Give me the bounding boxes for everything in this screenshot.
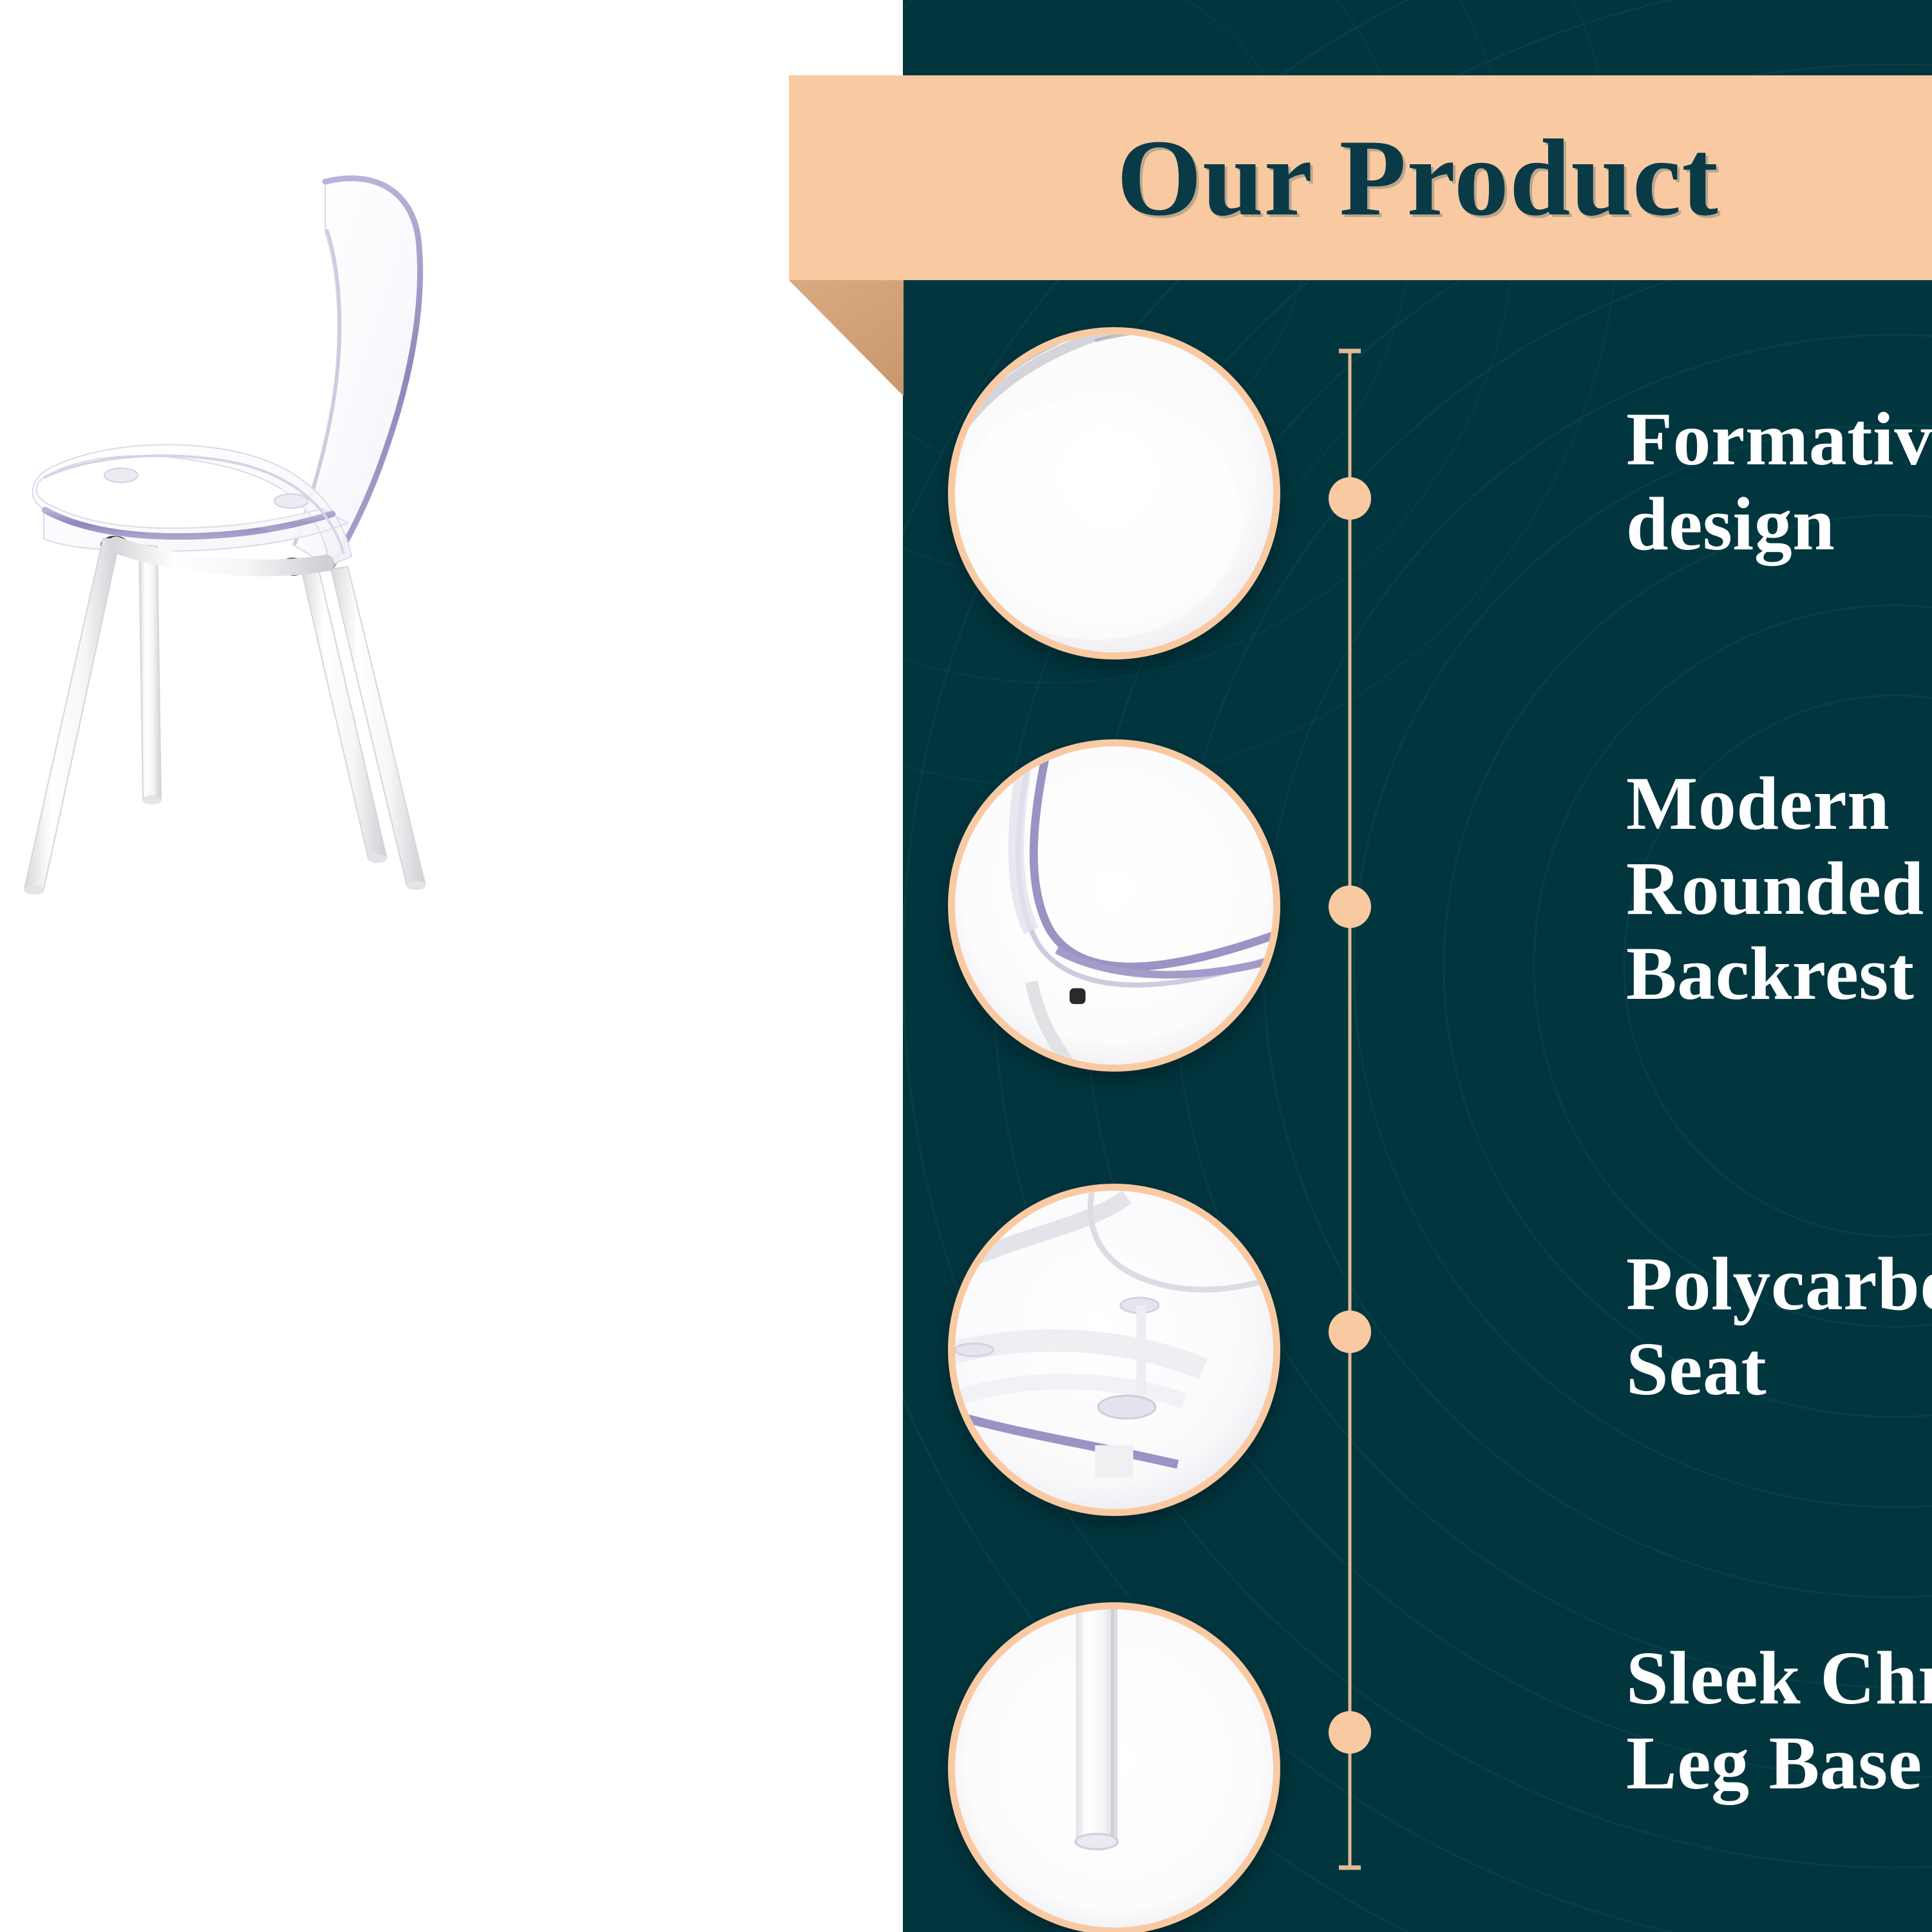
feature-panel: Formative design <box>903 0 1932 1932</box>
feature-thumb-formative-design[interactable] <box>948 327 1280 659</box>
label-line: design <box>1626 482 1929 567</box>
feature-label-formative-design: Formative design <box>1626 397 1929 567</box>
label-line: Backrest <box>1626 931 1929 1016</box>
feature-list: Formative design <box>903 0 1932 1932</box>
leg-tip <box>142 795 162 804</box>
page-title: Our Product <box>904 75 1932 280</box>
feature-thumb-modern-rounded-backrest[interactable] <box>948 739 1280 1072</box>
chair-leg-front-left <box>24 538 120 889</box>
leg-tip <box>406 881 426 890</box>
chair-photo <box>0 0 903 1932</box>
leg-tip <box>24 885 44 895</box>
polycarbonate-seat-surface-closeup-image <box>955 1191 1273 1509</box>
label-line: Formative <box>1626 397 1929 482</box>
label-line: Modern <box>1626 761 1929 846</box>
chrome-leg-tube-closeup-image <box>955 1609 1273 1927</box>
leg-tip <box>368 854 387 863</box>
label-line: Sleek Chrome <box>1626 1636 1929 1721</box>
label-line: Seat <box>1626 1327 1929 1412</box>
feature-label-polycarbonate-seat: Polycarbonate Seat <box>1626 1242 1929 1412</box>
feature-label-modern-rounded-backrest: Modern Rounded Backrest <box>1626 761 1929 1016</box>
feature-label-sleek-chrome-leg-base: Sleek Chrome Leg Base <box>1626 1636 1929 1806</box>
chair-backrest-top-closeup-image <box>955 334 1273 652</box>
product-image-area <box>0 0 903 1932</box>
label-line: Polycarbonate <box>1626 1242 1929 1327</box>
feature-thumb-sleek-chrome-leg-base[interactable] <box>948 1602 1280 1932</box>
feature-thumb-polycarbonate-seat[interactable] <box>948 1184 1280 1516</box>
seat-stud <box>274 494 308 508</box>
label-line: Rounded <box>1626 846 1929 931</box>
seat-stud <box>104 468 138 482</box>
chair-leg-front-right <box>139 545 161 799</box>
infographic-root: Formative design <box>0 0 1932 1932</box>
backrest-seat-junction-closeup-image <box>955 746 1273 1065</box>
title-ribbon: Our Product <box>789 75 1932 280</box>
label-line: Leg Base <box>1626 1721 1929 1806</box>
